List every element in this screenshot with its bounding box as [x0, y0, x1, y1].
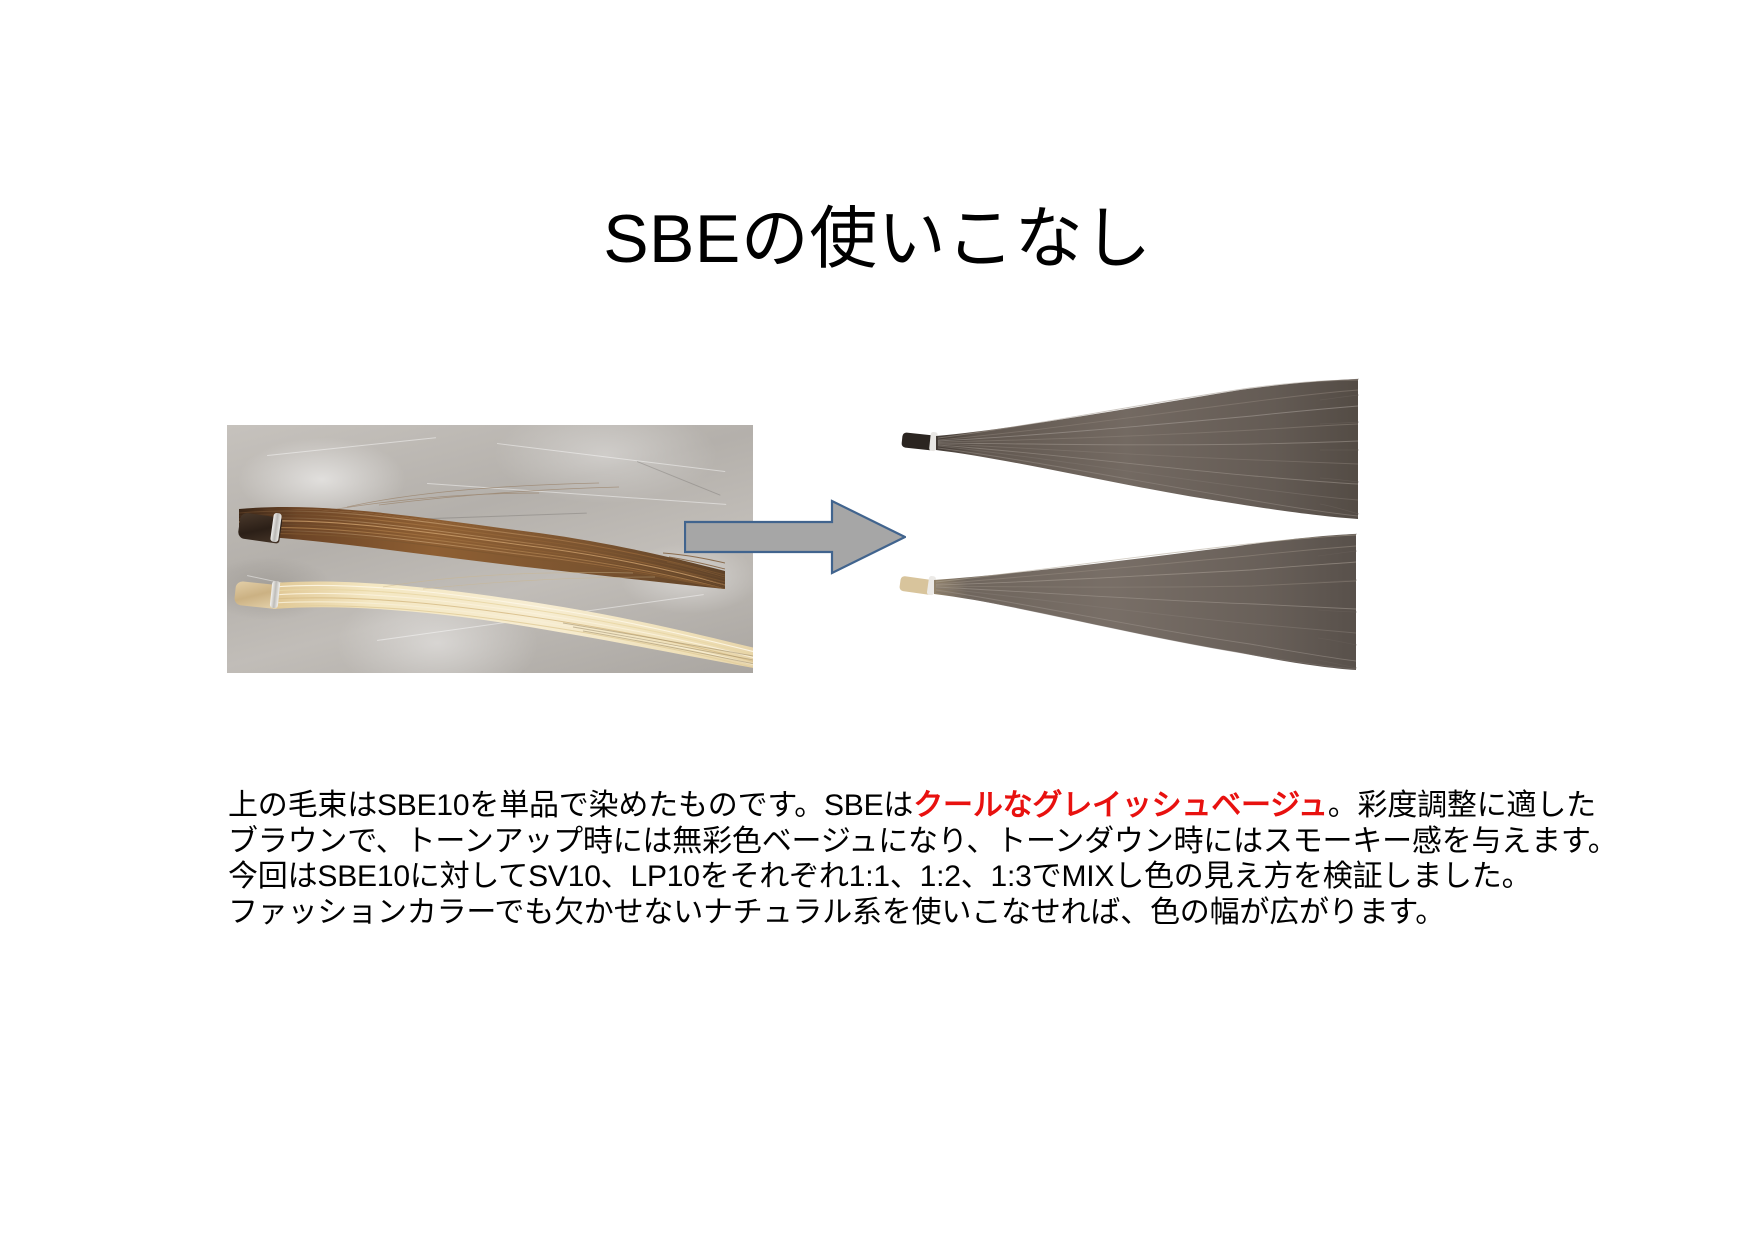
hair-strands-blonde: [273, 565, 753, 673]
hair-swatch-photo-before: [227, 425, 753, 673]
body-line-1-highlight: クールなグレイッシュベージュ: [913, 789, 1328, 822]
slide-canvas: SBEの使いこなし: [0, 0, 1755, 1241]
body-line-1: 上の毛束はSBE10を単品で染めたものです。SBEはクールなグレイッシュベージュ…: [228, 788, 1548, 824]
page-title: SBEの使いこなし: [0, 196, 1755, 282]
swatch-bottom-before: [235, 565, 753, 673]
process-arrow: [684, 499, 906, 575]
body-line-2: ブラウンで、トーンアップ時には無彩色ベージュになり、トーンダウン時にはスモーキー…: [228, 824, 1548, 860]
body-line-1-part-b: 。彩度調整に適した: [1328, 789, 1596, 822]
body-paragraph: 上の毛束はSBE10を単品で染めたものです。SBEはクールなグレイッシュベージュ…: [228, 788, 1548, 930]
body-line-4: ファッションカラーでも欠かせないナチュラル系を使いこなせれば、色の幅が広がります…: [228, 895, 1548, 931]
body-line-1-part-a: 上の毛束はSBE10を単品で染めたものです。SBEは: [228, 789, 913, 822]
swatch-top-result: [900, 378, 1360, 520]
body-line-3: 今回はSBE10に対してSV10、LP10をそれぞれ1:1、1:2、1:3でMI…: [228, 859, 1548, 895]
swatch-bottom-result: [898, 530, 1358, 672]
